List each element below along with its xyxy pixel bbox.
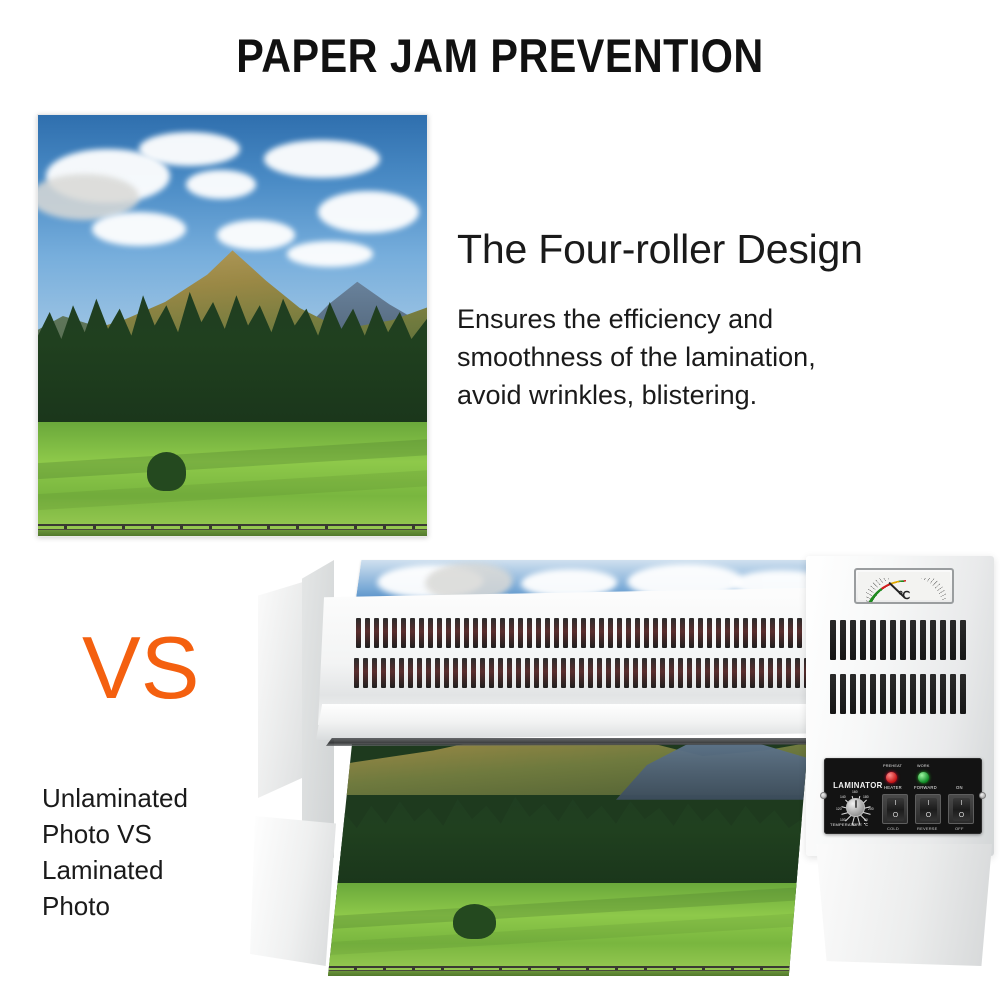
dial-mark: 200	[868, 807, 874, 811]
power-switch-rocker[interactable]: I O	[953, 798, 970, 821]
fence	[38, 524, 427, 531]
direction-switch-bottom-label: REVERSE	[917, 826, 938, 831]
vent-slot	[830, 674, 836, 714]
vent-slot	[920, 674, 926, 714]
vent-slot	[920, 620, 926, 660]
vent-slot	[653, 618, 658, 648]
landscape-scene-laminated	[328, 744, 808, 976]
direction-switch-on: I	[928, 800, 930, 807]
feature-body-line: avoid wrinkles, blistering.	[457, 376, 927, 414]
vent-slot	[687, 658, 692, 688]
vent-slot	[453, 658, 458, 688]
vs-caption-line: Photo VS	[42, 816, 257, 852]
power-switch[interactable]: I O	[948, 794, 974, 824]
dial-caption: TEMPERATURE ℃	[830, 822, 868, 827]
vent-slot	[588, 658, 593, 688]
cloud	[318, 191, 419, 233]
vent-slot	[489, 658, 494, 688]
vent-slot	[498, 658, 503, 688]
power-switch-bottom-label: OFF	[955, 826, 964, 831]
vent-slot	[615, 658, 620, 688]
cloud	[217, 220, 295, 249]
vent-slot	[786, 658, 791, 688]
vent-slot	[516, 658, 521, 688]
vent-slot	[554, 618, 559, 648]
vent-slot	[426, 658, 431, 688]
vent-slot	[689, 618, 694, 648]
vent-slot	[705, 658, 710, 688]
vent-slot	[606, 658, 611, 688]
laminator-machine: NOTICE ADVERT HIGHT TEMPERATURE	[250, 548, 995, 978]
vent-slot	[572, 618, 577, 648]
vent-slot	[363, 658, 368, 688]
feature-body-line: smoothness of the lamination,	[457, 338, 927, 376]
vent-slot	[455, 618, 460, 648]
heater-switch-bottom-label: COLD	[887, 826, 899, 831]
vent-slot	[840, 620, 846, 660]
cloud	[92, 212, 185, 246]
vent-slot	[626, 618, 631, 648]
vent-slot	[437, 618, 442, 648]
vent-slot	[770, 618, 775, 648]
page-title: PAPER JAM PREVENTION	[60, 28, 940, 83]
vent-slot	[473, 618, 478, 648]
vent-slot	[392, 618, 397, 648]
heater-switch[interactable]: I O	[882, 794, 908, 824]
vent-slot	[617, 618, 622, 648]
vent-slot	[734, 618, 739, 648]
vent-slot	[680, 618, 685, 648]
vent-slot	[381, 658, 386, 688]
vent-slot	[678, 658, 683, 688]
dial-mark: 120	[836, 807, 842, 811]
heater-switch-off: O	[893, 812, 898, 819]
vent-slot	[624, 658, 629, 688]
dial-mark: 160	[852, 790, 858, 794]
housing-foot-left	[250, 816, 336, 966]
power-switch-on: I	[961, 800, 963, 807]
vs-caption-line: Photo	[42, 888, 257, 924]
vent-slot	[534, 658, 539, 688]
panel-screw-left	[820, 792, 827, 799]
vs-caption-line: Laminated	[42, 852, 257, 888]
vent-slot	[518, 618, 523, 648]
vent-slot	[491, 618, 496, 648]
vent-slot	[960, 620, 966, 660]
control-panel: LAMINATOR PREHEAT WORK 160 180 200 60 80…	[824, 758, 982, 834]
direction-switch-top-label: FORWARD	[914, 785, 937, 790]
vent-slot	[723, 658, 728, 688]
vent-slot	[570, 658, 575, 688]
vent-slot	[408, 658, 413, 688]
vent-slot	[410, 618, 415, 648]
vent-slot	[930, 620, 936, 660]
brand-label: LAMINATOR	[833, 780, 883, 790]
vent-slot	[419, 618, 424, 648]
vent-slot	[597, 658, 602, 688]
vent-slot	[401, 618, 406, 648]
vent-slot	[900, 620, 906, 660]
lawn	[328, 883, 808, 976]
lawn	[38, 422, 427, 536]
vent-slot	[500, 618, 505, 648]
vent-slot	[552, 658, 557, 688]
vent-slot	[671, 618, 676, 648]
vent-slot	[482, 618, 487, 648]
vent-slot	[696, 658, 701, 688]
vent-slot	[579, 658, 584, 688]
work-led-label: WORK	[917, 764, 930, 768]
vent-slot	[462, 658, 467, 688]
vent-slot	[890, 620, 896, 660]
vent-slot	[940, 620, 946, 660]
vent-slot	[741, 658, 746, 688]
vent-slot	[507, 658, 512, 688]
direction-switch-off: O	[926, 812, 931, 819]
vent-slot	[759, 658, 764, 688]
vent-slot	[743, 618, 748, 648]
vent-slot	[752, 618, 757, 648]
laminated-photo-output	[328, 744, 808, 976]
housing-vent-row-top	[830, 620, 970, 660]
direction-switch[interactable]: I O	[915, 794, 941, 824]
vent-slot	[525, 658, 530, 688]
vent-slot	[563, 618, 568, 648]
cloud	[186, 170, 256, 199]
vent-slot	[390, 658, 395, 688]
laminator-right-housing: ℃ LAMINATOR PREHEAT WORK 160 180 200	[806, 556, 994, 856]
vent-slot	[910, 674, 916, 714]
vent-slot	[850, 620, 856, 660]
vent-slot	[750, 658, 755, 688]
vent-slot	[930, 674, 936, 714]
vent-slot	[779, 618, 784, 648]
vent-slot	[446, 618, 451, 648]
vent-slot	[428, 618, 433, 648]
vent-slot	[543, 658, 548, 688]
cloud	[139, 132, 240, 166]
dial-mark: 140	[840, 795, 846, 799]
vent-slot	[950, 620, 956, 660]
power-switch-off: O	[959, 812, 964, 819]
vent-slot	[777, 658, 782, 688]
vs-label: VS	[82, 624, 199, 712]
vent-slot	[356, 618, 361, 648]
vent-slot	[399, 658, 404, 688]
vent-slot	[651, 658, 656, 688]
gauge-face: ℃	[858, 572, 950, 600]
direction-switch-rocker[interactable]: I O	[920, 798, 937, 821]
housing-vent-row-bottom	[830, 674, 970, 714]
preheat-led-label: PREHEAT	[883, 764, 902, 768]
vs-caption-line: Unlaminated	[42, 780, 257, 816]
vent-slot	[870, 620, 876, 660]
vent-slot	[365, 618, 370, 648]
forest-front	[328, 786, 808, 897]
vent-slot	[900, 674, 906, 714]
vs-caption: Unlaminated Photo VS Laminated Photo	[42, 780, 257, 924]
feature-body-line: Ensures the efficiency and	[457, 300, 927, 338]
fence	[328, 966, 808, 972]
vent-slot	[788, 618, 793, 648]
vent-slot	[669, 658, 674, 688]
vent-slot	[732, 658, 737, 688]
vent-slot	[880, 674, 886, 714]
vent-slot	[581, 618, 586, 648]
vent-slot	[509, 618, 514, 648]
vent-slot	[960, 674, 966, 714]
vent-slot	[870, 674, 876, 714]
panel-screw-right	[979, 792, 986, 799]
vent-slot	[444, 658, 449, 688]
vent-slot	[725, 618, 730, 648]
vent-slot	[480, 658, 485, 688]
vent-slot	[471, 658, 476, 688]
temperature-gauge: ℃	[854, 568, 954, 604]
vent-slot	[464, 618, 469, 648]
bush	[453, 904, 496, 939]
vent-slot	[761, 618, 766, 648]
heater-switch-rocker[interactable]: I O	[887, 798, 904, 821]
vent-slot	[642, 658, 647, 688]
vent-slot	[860, 674, 866, 714]
unlaminated-photo	[37, 114, 428, 537]
vent-slot	[417, 658, 422, 688]
landscape-scene	[38, 115, 427, 536]
vent-slot	[890, 674, 896, 714]
vent-slot	[768, 658, 773, 688]
vent-slot	[940, 674, 946, 714]
vent-slot	[536, 618, 541, 648]
vent-slot	[644, 618, 649, 648]
vent-slot	[950, 674, 956, 714]
vent-slot	[795, 658, 800, 688]
cloud	[287, 241, 373, 266]
vent-slot	[608, 618, 613, 648]
vent-slot	[633, 658, 638, 688]
vent-slot	[698, 618, 703, 648]
vent-slot	[716, 618, 721, 648]
vent-slot	[797, 618, 802, 648]
bush	[147, 452, 186, 491]
vent-slot	[545, 618, 550, 648]
vent-slot	[354, 658, 359, 688]
preheat-led	[886, 772, 897, 783]
vent-slot	[830, 620, 836, 660]
heater-switch-on: I	[895, 800, 897, 807]
dial-knob[interactable]	[846, 798, 865, 817]
vent-slot	[840, 674, 846, 714]
vent-slot	[880, 620, 886, 660]
housing-foot-right	[816, 844, 992, 966]
vent-slot	[910, 620, 916, 660]
feature-headline: The Four-roller Design	[457, 226, 863, 273]
feature-body: Ensures the efficiency and smoothness of…	[457, 300, 927, 414]
vent-slot	[374, 618, 379, 648]
cloud	[264, 140, 381, 178]
vent-slot	[635, 618, 640, 648]
vent-slot	[527, 618, 532, 648]
power-switch-top-label: ON	[956, 785, 963, 790]
work-led	[918, 772, 929, 783]
vent-slot	[662, 618, 667, 648]
vent-slot	[590, 618, 595, 648]
vent-slot	[561, 658, 566, 688]
product-feature-poster: PAPER JAM PREVENTION	[0, 0, 1000, 1000]
vent-slot	[372, 658, 377, 688]
vent-slot	[707, 618, 712, 648]
vent-slot	[860, 620, 866, 660]
vent-slot	[599, 618, 604, 648]
vent-slot	[714, 658, 719, 688]
vent-slot	[383, 618, 388, 648]
vent-slot	[660, 658, 665, 688]
heater-switch-top-label: HEATER	[884, 785, 902, 790]
vent-slot	[435, 658, 440, 688]
vent-slot	[850, 674, 856, 714]
